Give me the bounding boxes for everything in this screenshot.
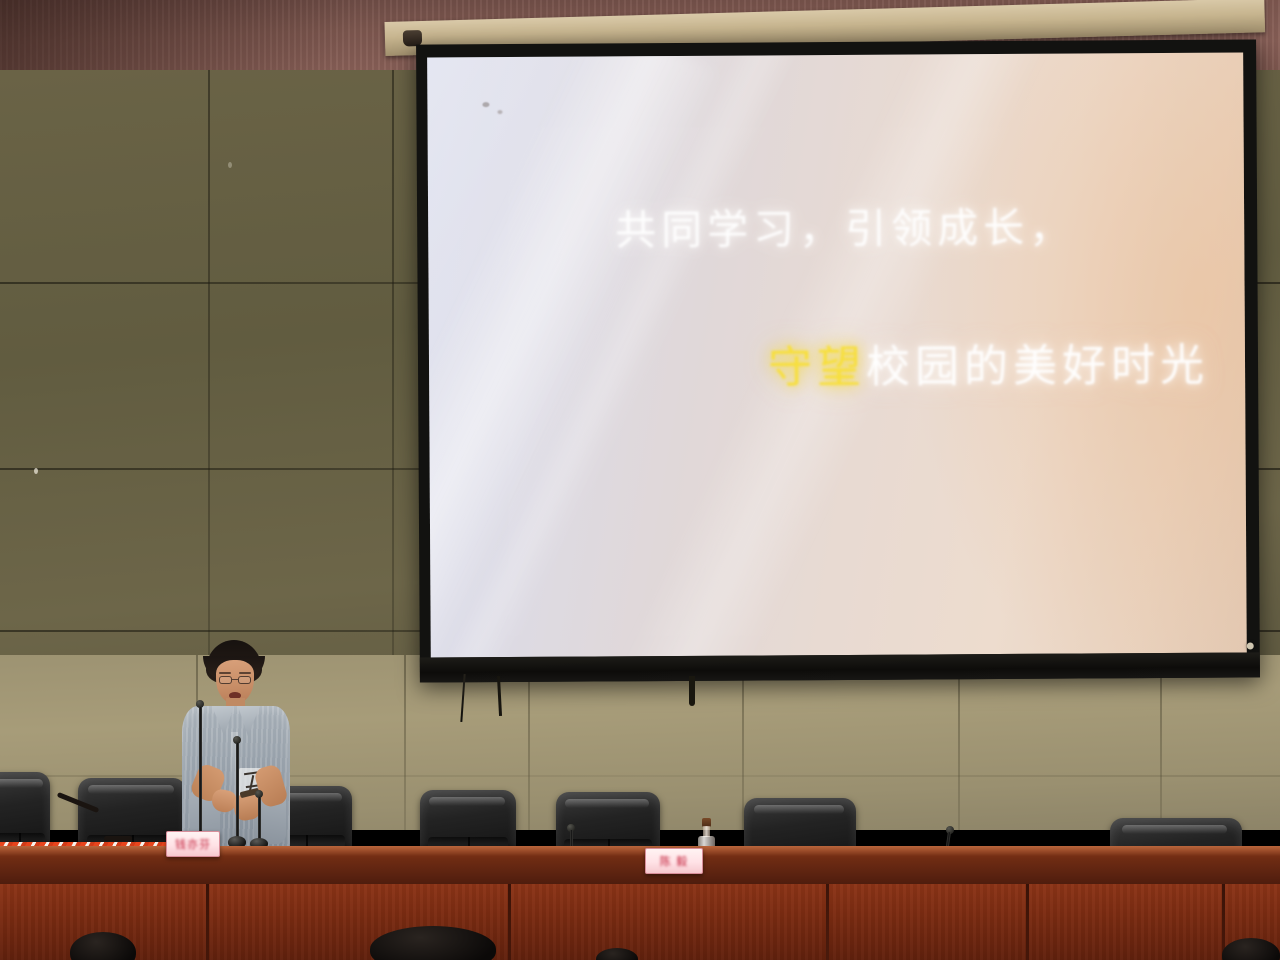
slide-line-2-rest: 校园的美好时光 xyxy=(866,340,1209,393)
projection-screen: 共同学习，引领成长， 守望校园的美好时光 xyxy=(416,39,1260,682)
gooseneck-microphone[interactable] xyxy=(192,700,208,850)
name-placard-left[interactable]: 钱亦芬 xyxy=(166,831,220,857)
name-placard-right[interactable]: 陈 毅 xyxy=(645,848,703,874)
placard-left-text: 钱亦芬 xyxy=(175,836,211,852)
slide-line-2: 守望校园的美好时光 xyxy=(455,329,1219,398)
eyeglasses-left-lens xyxy=(219,676,232,684)
eyeglasses-right-lens xyxy=(238,676,251,684)
auditorium-scene: 共同学习，引领成长， 守望校园的美好时光 xyxy=(0,0,1280,960)
screen-cord-weight xyxy=(689,676,695,706)
executive-chair[interactable] xyxy=(0,772,50,852)
eyeglasses-bridge xyxy=(232,679,238,680)
gooseneck-microphone[interactable] xyxy=(250,790,268,852)
slide-line-1: 共同学习，引领成长， xyxy=(472,193,1218,258)
placard-right-text: 陈 毅 xyxy=(660,853,689,869)
screen-corner-screw xyxy=(1247,642,1254,649)
conference-table-front xyxy=(0,884,1280,960)
projection-surface: 共同学习，引领成长， 守望校园的美好时光 xyxy=(427,53,1247,658)
screen-weight-bar xyxy=(420,652,1260,682)
gooseneck-microphone[interactable] xyxy=(228,736,246,852)
slide-highlight-text: 守望 xyxy=(768,342,866,394)
chair-cable xyxy=(104,836,132,841)
slide-content: 共同学习，引领成长， 守望校园的美好时光 xyxy=(427,53,1247,658)
